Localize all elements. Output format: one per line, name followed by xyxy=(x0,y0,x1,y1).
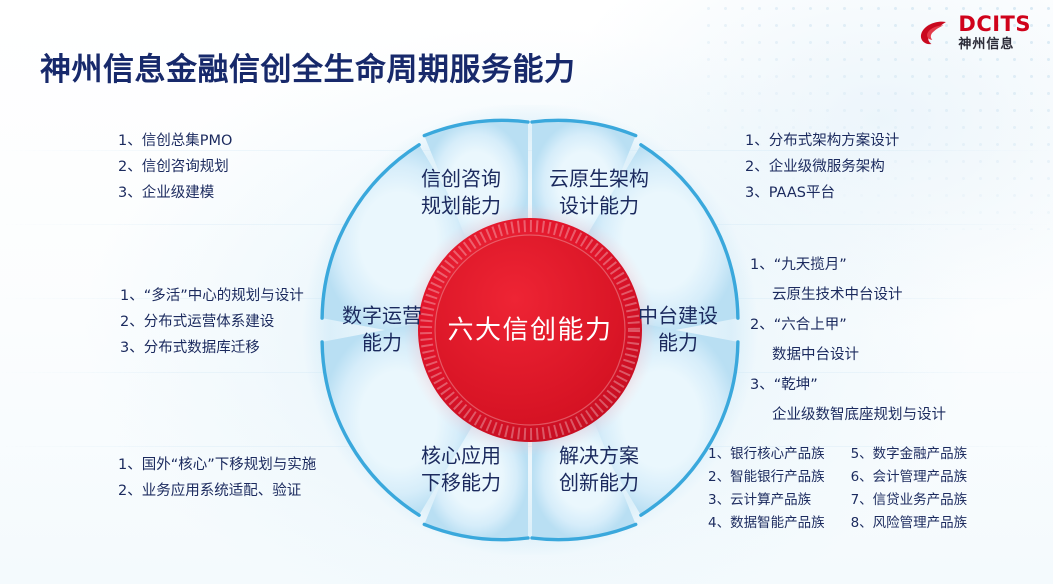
list-item: 1、分布式架构方案设计 xyxy=(745,128,899,154)
sector-label-digitalops-l2: 能力 xyxy=(362,331,402,355)
list-item: 2、分布式运营体系建设 xyxy=(120,309,304,335)
list-item: 3、企业级建模 xyxy=(118,180,232,206)
page-title: 神州信息金融信创全生命周期服务能力 xyxy=(40,44,576,89)
list-item: 3、分布式数据库迁移 xyxy=(120,335,304,361)
brand-wordmark: DCITS 神州信息 xyxy=(958,14,1031,51)
list-item: 7、信贷业务产品族 xyxy=(851,489,968,512)
list-item: 5、数字金融产品族 xyxy=(851,443,968,466)
list-item-sub: 云原生技术中台设计 xyxy=(750,280,946,310)
list-item-sub: 企业级数智底座规划与设计 xyxy=(750,400,946,430)
callout-midplatform: 1、“九天揽月” 云原生技术中台设计 2、“六合上甲” 数据中台设计 3、“乾坤… xyxy=(750,250,946,430)
sector-label-solution-l2: 创新能力 xyxy=(559,471,639,495)
list-item: 3、PAAS平台 xyxy=(745,180,899,206)
list-item: 3、“乾坤” xyxy=(750,370,946,400)
list-item: 4、数据智能产品族 xyxy=(708,512,825,535)
list-item: 2、企业级微服务架构 xyxy=(745,154,899,180)
callout-coreapp: 1、国外“核心”下移规划与实施 2、业务应用系统适配、验证 xyxy=(118,452,316,504)
solution-column-1: 1、银行核心产品族 2、智能银行产品族 3、云计算产品族 4、数据智能产品族 xyxy=(708,443,825,535)
sector-label-consulting-l1: 信创咨询 xyxy=(421,167,501,191)
sector-label-coreapp-l2: 下移能力 xyxy=(421,471,501,495)
sector-label-consulting-l2: 规划能力 xyxy=(421,194,501,218)
sector-label-solution-l1: 解决方案 xyxy=(559,444,639,468)
sector-label-midplatform-l1: 中台建设 xyxy=(638,304,718,328)
capability-wheel: 六大信创能力 信创咨询 规划能力 云原生架构 设计能力 中台建设 能力 解决方案… xyxy=(300,105,760,555)
list-item: 6、会计管理产品族 xyxy=(851,466,968,489)
brand-name-en: DCITS xyxy=(958,14,1031,35)
list-item: 3、云计算产品族 xyxy=(708,489,825,512)
sector-label-cloudnative-l1: 云原生架构 xyxy=(549,167,649,191)
callout-consulting: 1、信创总集PMO 2、信创咨询规划 3、企业级建模 xyxy=(118,128,232,206)
list-item: 1、国外“核心”下移规划与实施 xyxy=(118,452,316,478)
sector-label-digitalops-l1: 数字运营 xyxy=(342,304,422,328)
sector-label-cloudnative-l2: 设计能力 xyxy=(559,194,639,218)
list-item: 2、智能银行产品族 xyxy=(708,466,825,489)
sector-label-midplatform-l2: 能力 xyxy=(658,331,698,355)
list-item: 1、“九天揽月” xyxy=(750,250,946,280)
callout-cloudnative: 1、分布式架构方案设计 2、企业级微服务架构 3、PAAS平台 xyxy=(745,128,899,206)
list-item: 1、信创总集PMO xyxy=(118,128,232,154)
callout-digitalops: 1、“多活”中心的规划与设计 2、分布式运营体系建设 3、分布式数据库迁移 xyxy=(120,283,304,361)
list-item: 1、“多活”中心的规划与设计 xyxy=(120,283,304,309)
dcits-swoosh-icon xyxy=(917,16,951,50)
hub-label: 六大信创能力 xyxy=(447,316,612,346)
list-item: 1、银行核心产品族 xyxy=(708,443,825,466)
callout-solution: 1、银行核心产品族 2、智能银行产品族 3、云计算产品族 4、数据智能产品族 5… xyxy=(708,443,967,535)
solution-column-2: 5、数字金融产品族 6、会计管理产品族 7、信贷业务产品族 8、风险管理产品族 xyxy=(851,443,968,535)
list-item: 2、信创咨询规划 xyxy=(118,154,232,180)
list-item: 2、业务应用系统适配、验证 xyxy=(118,478,316,504)
list-item: 2、“六合上甲” xyxy=(750,310,946,340)
list-item-sub: 数据中台设计 xyxy=(750,340,946,370)
list-item: 8、风险管理产品族 xyxy=(851,512,968,535)
brand-logo: DCITS 神州信息 xyxy=(917,14,1031,51)
sector-label-coreapp-l1: 核心应用 xyxy=(421,444,501,468)
brand-name-cn: 神州信息 xyxy=(958,38,1031,51)
